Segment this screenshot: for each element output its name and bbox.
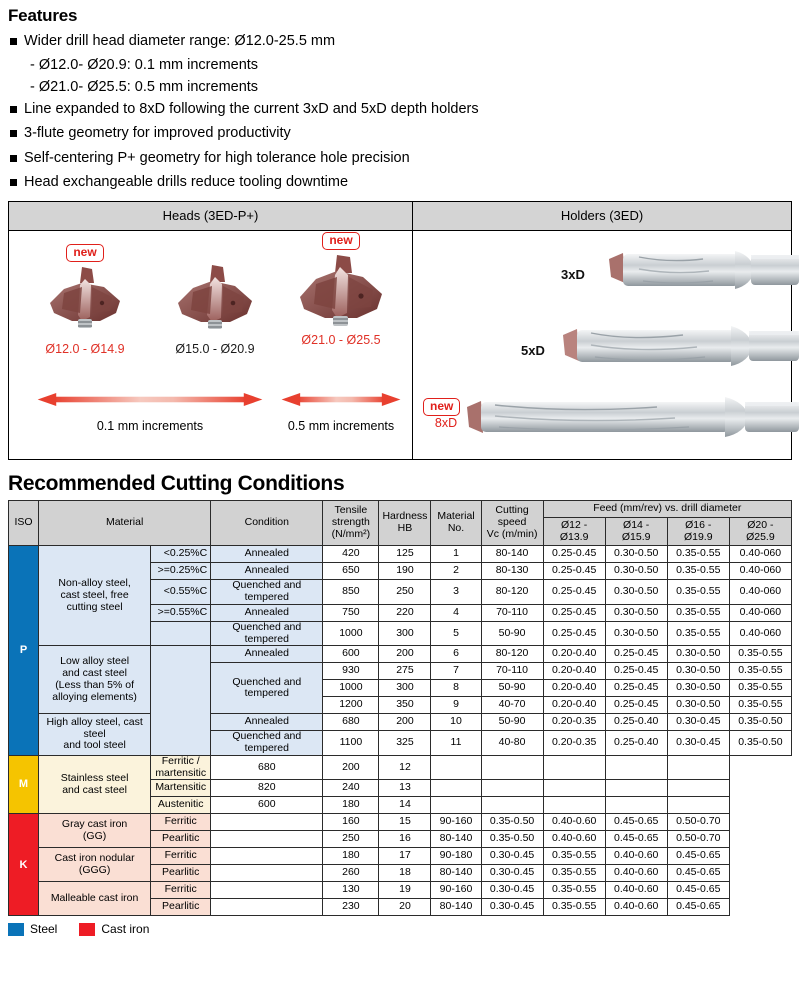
hardness-cell: 190 [379,563,431,580]
condition-cell: Ferritic [151,814,211,831]
material-no-cell: 16 [379,831,431,848]
material-no-cell: 4 [431,604,481,621]
carbon-content [151,621,211,646]
bullet-square-icon [10,38,17,45]
header-tensile-l3: (N/mm²) [325,529,376,541]
material-no-cell: 18 [379,865,431,882]
feature-subitem: - Ø21.0- Ø25.5: 0.5 mm increments [30,79,792,96]
carbon-content: <0.25%C [151,546,211,563]
hardness-cell: 220 [379,604,431,621]
legend-swatch-icon [79,923,95,936]
feed-cell-3: 0.35-0.55 [667,580,729,605]
tensile-strength-cell: 820 [211,780,323,797]
header-condition: Condition [211,500,323,546]
header-feed-col-1: Ø12 - Ø13.9 [543,517,605,546]
drill-head-icon-1 [42,263,128,337]
head-label-2: Ø15.0 - Ø20.9 [151,342,279,356]
feed-cell-4: 0.40-060 [729,604,791,621]
feed-cell-4: 0.35-0.50 [729,714,791,731]
cutting-speed-cell: 80-120 [481,580,543,605]
cutting-speed-cell [431,797,481,814]
condition-cell: Annealed [211,646,323,663]
feed-cell-2: 0.25-0.45 [605,680,667,697]
header-tensile-strength: Tensile strength (N/mm²) [323,500,379,546]
increment-label-2: 0.5 mm increments [277,419,405,433]
cutting-speed-cell: 40-80 [481,731,543,756]
material-no-cell: 14 [379,797,431,814]
cutting-speed-cell: 50-90 [481,680,543,697]
table-row: MStainless steeland cast steelFerritic /… [9,755,792,780]
material-no-cell: 20 [379,899,431,916]
feature-item: 3-flute geometry for improved productivi… [8,125,792,142]
feed-cell-1: 0.35-0.50 [481,814,543,831]
material-name: High alloy steel, cast steeland tool ste… [39,714,151,756]
cutting-conditions-title: Recommended Cutting Conditions [8,472,800,496]
table-row: Cast iron nodular(GGG)Ferritic1801790-18… [9,848,792,865]
feed-cell-4: 0.45-0.65 [667,882,729,899]
condition-cell: Austenitic [151,797,211,814]
tensile-strength-cell: 420 [323,546,379,563]
feed-cell-2: 0.40-0.60 [543,814,605,831]
tensile-strength-cell: 1000 [323,621,379,646]
feed-cell-2: 0.30-0.50 [605,546,667,563]
feature-text: 3-flute geometry for improved productivi… [24,125,291,142]
material-no-cell: 12 [379,755,431,780]
feed-cell-2: 0.35-0.55 [543,882,605,899]
tensile-strength-cell: 680 [211,755,323,780]
feed-cell-3: 0.30-0.45 [667,731,729,756]
header-iso: ISO [9,500,39,546]
feed-cell-3: 0.30-0.50 [667,697,729,714]
feed-cell-2 [543,755,605,780]
feed-cell-1: 0.30-0.45 [481,865,543,882]
feed-cell-4: 0.35-0.55 [729,697,791,714]
feed-cell-2: 0.25-0.40 [605,731,667,756]
hardness-cell: 240 [323,780,379,797]
cutting-speed-cell: 80-140 [431,831,481,848]
material-name: Low alloy steeland cast steel(Less than … [39,646,151,714]
material-name: Non-alloy steel,cast steel, freecutting … [39,546,151,646]
new-badge-label: new [322,232,359,250]
feed-cell-3: 0.35-0.55 [667,621,729,646]
header-row-1: ISO Material Condition Tensile strength … [9,500,792,517]
header-vc-l3: Vc (m/min) [484,529,541,541]
feature-text: Line expanded to 8xD following the curre… [24,101,479,118]
feed-cell-2: 0.25-0.40 [605,714,667,731]
table-body: PNon-alloy steel,cast steel, freecutting… [9,546,792,916]
feed-cell-4: 0.40-060 [729,563,791,580]
feed-cell-3: 0.40-0.60 [605,865,667,882]
feed-cell-3: 0.40-0.60 [605,848,667,865]
tensile-strength-cell [211,899,323,916]
legend-item-cast-iron: Cast iron [79,922,149,936]
feed-cell-4: 0.45-0.65 [667,899,729,916]
drill-head-icon-2 [172,263,258,337]
feed-cell-4 [667,755,729,780]
hardness-cell: 250 [323,831,379,848]
hardness-cell: 250 [379,580,431,605]
heads-panel: Heads (3ED-P+) new [9,202,413,459]
hardness-cell: 200 [379,646,431,663]
legend-label: Steel [30,922,57,936]
feed-cell-2: 0.30-0.50 [605,580,667,605]
new-badge-holder-8xd: new [423,397,460,416]
material-no-cell: 10 [431,714,481,731]
cutting-speed-cell: 80-140 [481,546,543,563]
feed-cell-1: 0.20-0.35 [543,731,605,756]
feed-cell-4: 0.35-0.55 [729,646,791,663]
feed-cell-3 [605,780,667,797]
feed-cell-4: 0.50-0.70 [667,814,729,831]
feed-cell-2: 0.35-0.55 [543,865,605,882]
cutting-conditions-table: ISO Material Condition Tensile strength … [8,500,792,917]
hardness-cell: 300 [379,680,431,697]
feed-cell-1 [481,780,543,797]
table-row: KGray cast iron(GG)Ferritic1601590-1600.… [9,814,792,831]
feed-cell-1: 0.20-0.40 [543,646,605,663]
hardness-cell: 260 [323,865,379,882]
condition-cell: Annealed [211,714,323,731]
feed-cell-1: 0.25-0.45 [543,621,605,646]
feed-cell-4: 0.40-060 [729,580,791,605]
material-name: Malleable cast iron [39,882,151,916]
feed-cell-1: 0.30-0.45 [481,899,543,916]
bullet-square-icon [10,179,17,186]
tensile-strength-cell: 650 [323,563,379,580]
feature-item: Wider drill head diameter range: Ø12.0-2… [8,33,792,50]
cutting-speed-cell [431,755,481,780]
head-item-2: Ø15.0 - Ø20.9 [151,243,279,356]
holders-panel: Holders (3ED) 3xD [413,202,791,459]
increment-label-1: 0.1 mm increments [29,419,271,433]
holder-drill-icon-8xd [461,391,799,451]
hardness-cell: 180 [323,797,379,814]
feed-cell-1: 0.25-0.45 [543,546,605,563]
tensile-strength-cell: 930 [323,663,379,680]
tensile-strength-cell: 850 [323,580,379,605]
feed-cell-3 [605,797,667,814]
hardness-cell: 275 [379,663,431,680]
tensile-strength-cell: 1200 [323,697,379,714]
cutting-speed-cell: 80-140 [431,865,481,882]
cutting-speed-cell: 80-140 [431,899,481,916]
table-row: PNon-alloy steel,cast steel, freecutting… [9,546,792,563]
feed-cell-3 [605,755,667,780]
feed-cell-2: 0.25-0.45 [605,646,667,663]
head-item-3: new [277,231,405,347]
cutting-speed-cell: 70-110 [481,604,543,621]
feed-cell-3: 0.30-0.50 [667,663,729,680]
condition-cell: Annealed [211,604,323,621]
iso-group-p: P [9,546,39,756]
head-label-1: Ø12.0 - Ø14.9 [21,342,149,356]
condition-cell: Ferritic [151,848,211,865]
feed-cell-3: 0.35-0.55 [667,604,729,621]
cutting-speed-cell: 80-130 [481,563,543,580]
carbon-content: <0.55%C [151,580,211,605]
bullet-square-icon [10,155,17,162]
feed-cell-4 [667,797,729,814]
hardness-cell: 350 [379,697,431,714]
condition-cell: Pearlitic [151,831,211,848]
iso-group-m: M [9,755,39,814]
condition-cell: Pearlitic [151,865,211,882]
feed-cell-1: 0.25-0.45 [543,563,605,580]
holders-panel-body: 3xD [413,231,791,459]
increment-arrow-1-icon [29,393,271,406]
hardness-cell: 200 [379,714,431,731]
feed-cell-1: 0.35-0.50 [481,831,543,848]
feed-cell-2: 0.30-0.50 [605,621,667,646]
feed-cell-4: 0.50-0.70 [667,831,729,848]
tensile-strength-cell: 750 [323,604,379,621]
carbon-content: >=0.55%C [151,604,211,621]
condition-cell: Annealed [211,563,323,580]
legend: SteelCast iron [8,922,800,936]
header-material: Material [39,500,211,546]
material-name: Gray cast iron(GG) [39,814,151,848]
header-feed-col-3: Ø16 - Ø19.9 [667,517,729,546]
feed-cell-3: 0.40-0.60 [605,899,667,916]
condition-cell: Quenched and tempered [211,580,323,605]
hardness-cell: 130 [323,882,379,899]
cutting-speed-cell: 90-160 [431,882,481,899]
feed-cell-1: 0.30-0.45 [481,882,543,899]
feed-cell-3: 0.35-0.55 [667,563,729,580]
table-row: High alloy steel, cast steeland tool ste… [9,714,792,731]
increment-arrow-2-icon [277,393,405,406]
tensile-strength-cell: 1100 [323,731,379,756]
heads-panel-body: new [9,231,412,459]
feed-cell-4: 0.35-0.55 [729,680,791,697]
cutting-speed-cell [431,780,481,797]
feed-cell-1: 0.20-0.35 [543,714,605,731]
iso-group-k: K [9,814,39,916]
condition-cell: Quenched and tempered [211,731,323,756]
carbon-content-spacer [151,646,211,756]
feed-cell-1: 0.20-0.40 [543,680,605,697]
material-no-cell: 1 [431,546,481,563]
holder-label-5xd: 5xD [521,343,545,358]
bullet-square-icon [10,130,17,137]
feed-cell-3: 0.35-0.55 [667,546,729,563]
material-no-cell: 17 [379,848,431,865]
header-feed-group: Feed (mm/rev) vs. drill diameter [543,500,791,517]
feature-subitem: - Ø12.0- Ø20.9: 0.1 mm increments [30,57,792,74]
hardness-cell: 300 [379,621,431,646]
hardness-cell: 180 [323,848,379,865]
cutting-speed-cell: 90-160 [431,814,481,831]
feed-cell-2: 0.40-0.60 [543,831,605,848]
material-no-cell: 13 [379,780,431,797]
header-cutting-speed: Cutting speed Vc (m/min) [481,500,543,546]
heads-panel-title: Heads (3ED-P+) [9,202,412,231]
header-hardness-l2: HB [381,523,428,535]
condition-cell: Quenched and tempered [211,621,323,646]
feed-cell-1 [481,755,543,780]
cutting-speed-cell: 90-180 [431,848,481,865]
feed-cell-4: 0.40-060 [729,546,791,563]
new-badge-placeholder-2 [151,243,279,263]
material-no-cell: 19 [379,882,431,899]
condition-cell: Ferritic / martensitic [151,755,211,780]
hardness-cell: 200 [323,755,379,780]
condition-cell: Ferritic [151,882,211,899]
material-name: Stainless steeland cast steel [39,755,151,814]
feature-item: Head exchangeable drills reduce tooling … [8,174,792,191]
header-feed-col-4: Ø20 - Ø25.9 [729,517,791,546]
feed-cell-3: 0.45-0.65 [605,831,667,848]
header-material-no: Material No. [431,500,481,546]
material-no-cell: 5 [431,621,481,646]
feature-text: Self-centering P+ geometry for high tole… [24,150,410,167]
header-feed-col-2: Ø14 - Ø15.9 [605,517,667,546]
material-no-cell: 11 [431,731,481,756]
holders-panel-title: Holders (3ED) [413,202,791,231]
feed-cell-2 [543,780,605,797]
material-name: Cast iron nodular(GGG) [39,848,151,882]
feed-cell-2: 0.25-0.45 [605,697,667,714]
feed-cell-1: 0.25-0.45 [543,580,605,605]
feature-item: Self-centering P+ geometry for high tole… [8,150,792,167]
head-label-3: Ø21.0 - Ø25.5 [277,333,405,347]
hardness-cell: 160 [323,814,379,831]
tensile-strength-cell: 680 [323,714,379,731]
head-item-1: new [21,243,149,356]
cutting-speed-cell: 80-120 [481,646,543,663]
new-badge-label: new [66,244,103,262]
feed-cell-4: 0.35-0.50 [729,731,791,756]
heads-stage: new [9,231,412,391]
cutting-speed-cell: 40-70 [481,697,543,714]
carbon-content: >=0.25%C [151,563,211,580]
feed-cell-4 [667,780,729,797]
material-no-cell: 7 [431,663,481,680]
tensile-strength-cell [211,882,323,899]
feed-cell-4: 0.45-0.65 [667,865,729,882]
feature-text: Wider drill head diameter range: Ø12.0-2… [24,33,335,50]
feed-cell-2 [543,797,605,814]
holder-drill-icon-5xd [555,321,799,383]
holder-row-3xd: 3xD [413,245,791,307]
bullet-square-icon [10,106,17,113]
material-no-cell: 8 [431,680,481,697]
condition-cell: Pearlitic [151,899,211,916]
feed-cell-2: 0.35-0.55 [543,899,605,916]
legend-swatch-icon [8,923,24,936]
drill-head-icon-3 [293,251,389,335]
tensile-strength-cell: 600 [323,646,379,663]
material-no-cell: 2 [431,563,481,580]
material-no-cell: 6 [431,646,481,663]
feed-cell-2: 0.30-0.50 [605,604,667,621]
holder-row-8xd: new 8xD [413,391,791,455]
material-no-cell: 9 [431,697,481,714]
hardness-cell: 125 [379,546,431,563]
legend-item-steel: Steel [8,922,57,936]
tensile-strength-cell: 600 [211,797,323,814]
condition-cell: Quenched andtempered [211,663,323,714]
feed-cell-2: 0.25-0.45 [605,663,667,680]
condition-cell: Annealed [211,546,323,563]
tensile-strength-cell [211,865,323,882]
header-hardness: Hardness HB [379,500,431,546]
features-section: Features Wider drill head diameter range… [0,0,800,191]
features-list: Wider drill head diameter range: Ø12.0-2… [8,33,792,191]
hardness-cell: 230 [323,899,379,916]
feed-cell-3: 0.30-0.50 [667,646,729,663]
feed-cell-2: 0.35-0.55 [543,848,605,865]
cutting-speed-cell: 70-110 [481,663,543,680]
holder-row-5xd: 5xD [413,321,791,383]
legend-label: Cast iron [101,922,149,936]
holder-label-3xd: 3xD [561,267,585,282]
feed-cell-1: 0.20-0.40 [543,663,605,680]
hardness-cell: 325 [379,731,431,756]
header-matno-l2: No. [433,523,478,535]
features-title: Features [8,6,792,26]
product-panels: Heads (3ED-P+) new [8,201,792,460]
new-badge-head-3: new [277,231,405,251]
feed-cell-2: 0.30-0.50 [605,563,667,580]
feed-cell-1 [481,797,543,814]
feed-cell-3: 0.45-0.65 [605,814,667,831]
cutting-speed-cell: 50-90 [481,621,543,646]
cutting-speed-cell: 50-90 [481,714,543,731]
new-badge-label: new [423,398,460,416]
table-header: ISO Material Condition Tensile strength … [9,500,792,546]
tensile-strength-cell [211,814,323,831]
feed-cell-1: 0.20-0.40 [543,697,605,714]
feed-cell-4: 0.35-0.55 [729,663,791,680]
feed-cell-1: 0.25-0.45 [543,604,605,621]
increments-arrows: 0.1 mm increments 0.5 mm increments [9,393,412,451]
tensile-strength-cell: 1000 [323,680,379,697]
feed-cell-4: 0.40-060 [729,621,791,646]
holder-drill-icon-3xd [599,245,799,307]
feed-cell-3: 0.40-0.60 [605,882,667,899]
table-row: Malleable cast ironFerritic1301990-1600.… [9,882,792,899]
tensile-strength-cell [211,831,323,848]
table-row: Low alloy steeland cast steel(Less than … [9,646,792,663]
new-badge-head-1: new [21,243,149,263]
feed-cell-4: 0.45-0.65 [667,848,729,865]
feed-cell-3: 0.30-0.45 [667,714,729,731]
feed-cell-1: 0.30-0.45 [481,848,543,865]
material-no-cell: 3 [431,580,481,605]
feed-cell-3: 0.30-0.50 [667,680,729,697]
condition-cell: Martensitic [151,780,211,797]
feature-item: Line expanded to 8xD following the curre… [8,101,792,118]
feature-text: Head exchangeable drills reduce tooling … [24,174,348,191]
material-no-cell: 15 [379,814,431,831]
tensile-strength-cell [211,848,323,865]
